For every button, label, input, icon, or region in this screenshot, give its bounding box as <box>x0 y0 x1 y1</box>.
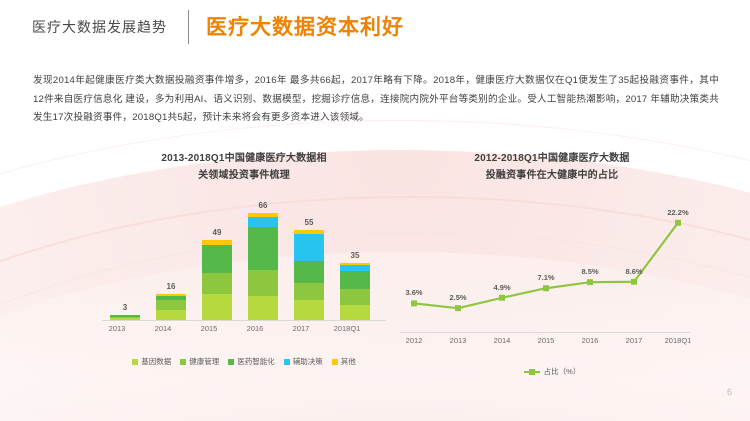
bar-x-tick-label: 2013 <box>94 324 140 333</box>
slide-header: 医疗大数据发展趋势 医疗大数据资本利好 <box>0 0 750 56</box>
bar-segment <box>248 296 278 320</box>
page-title: 医疗大数据资本利好 <box>206 11 404 41</box>
bar-segment <box>202 273 232 294</box>
line-chart-legend: 占比（%） <box>392 366 712 377</box>
bar-chart: 2013-2018Q1中国健康医疗大数据相 关领域投资事件梳理 31649665… <box>96 150 392 358</box>
bar-chart-x-axis <box>102 320 386 321</box>
bar-chart-title: 2013-2018Q1中国健康医疗大数据相 关领域投资事件梳理 <box>96 150 392 184</box>
legend-swatch-icon <box>180 359 186 365</box>
bar-segment <box>340 289 370 305</box>
bar-chart-legend: 基因数据健康管理医药智能化辅助决策其他 <box>96 356 392 367</box>
line-value-label: 4.9% <box>493 283 510 292</box>
bar-chart-x-tick-labels: 201320142015201620172018Q1 <box>96 324 392 340</box>
line-chart-title-line2: 投融资事件在大健康中的占比 <box>392 167 712 184</box>
line-legend-label: 占比（%） <box>544 366 581 377</box>
line-value-label: 22.2% <box>667 208 688 217</box>
bar-value-label: 35 <box>340 251 370 263</box>
legend-swatch-icon <box>228 359 234 365</box>
bar-legend-item[interactable]: 辅助决策 <box>284 356 323 367</box>
bar-column: 55 <box>294 230 324 320</box>
bar-chart-title-line1: 2013-2018Q1中国健康医疗大数据相 <box>96 150 392 167</box>
header-divider <box>188 10 189 44</box>
bar-legend-item[interactable]: 其他 <box>332 356 356 367</box>
bar-x-tick-label: 2015 <box>186 324 232 333</box>
header-subtitle: 医疗大数据发展趋势 <box>32 17 167 37</box>
line-x-tick-label: 2014 <box>482 336 522 345</box>
line-x-tick-label: 2017 <box>614 336 654 345</box>
line-value-label: 7.1% <box>537 273 554 282</box>
bar-column: 3 <box>110 315 140 320</box>
bar-column: 16 <box>156 294 186 320</box>
legend-swatch-icon <box>284 359 290 365</box>
line-data-point <box>499 295 505 301</box>
line-chart-title-line1: 2012-2018Q1中国健康医疗大数据 <box>392 150 712 167</box>
line-chart-plot-area: 3.6%2.5%4.9%7.1%8.5%8.6%22.2% <box>392 193 712 333</box>
legend-label: 健康管理 <box>189 356 219 367</box>
bar-segment <box>248 227 278 269</box>
bar-segment <box>340 271 370 289</box>
line-value-label: 2.5% <box>449 293 466 302</box>
bar-legend-item[interactable]: 基因数据 <box>132 356 171 367</box>
line-data-point <box>543 285 549 291</box>
legend-label: 医药智能化 <box>237 356 275 367</box>
bar-value-label: 3 <box>110 303 140 315</box>
line-x-tick-label: 2018Q1 <box>658 336 698 345</box>
line-legend-marker-icon <box>524 371 540 373</box>
bar-segment <box>294 234 324 262</box>
line-x-tick-label: 2013 <box>438 336 478 345</box>
line-data-point <box>455 305 461 311</box>
bar-x-tick-label: 2018Q1 <box>324 324 370 333</box>
bar-segment <box>340 305 370 320</box>
bar-value-label: 16 <box>156 282 186 294</box>
bar-x-tick-label: 2014 <box>140 324 186 333</box>
line-value-label: 3.6% <box>405 288 422 297</box>
bar-value-label: 55 <box>294 218 324 230</box>
slide-canvas: 医疗大数据发展趋势 医疗大数据资本利好 发现2014年起健康医疗类大数据投融资事… <box>0 0 750 421</box>
bar-x-tick-label: 2016 <box>232 324 278 333</box>
line-chart-series <box>392 193 712 333</box>
legend-label: 辅助决策 <box>293 356 323 367</box>
bar-column: 66 <box>248 213 278 320</box>
legend-label: 其他 <box>341 356 356 367</box>
page-number: 6 <box>727 387 732 397</box>
line-value-label: 8.6% <box>625 267 642 276</box>
bar-chart-plot-area: 31649665535 <box>96 193 392 321</box>
line-value-label: 8.5% <box>581 267 598 276</box>
bar-segment <box>202 294 232 320</box>
bar-segment <box>294 300 324 320</box>
line-x-tick-label: 2015 <box>526 336 566 345</box>
legend-swatch-icon <box>332 359 338 365</box>
body-paragraph: 发现2014年起健康医疗类大数据投融资事件增多，2016年 最多共66起，201… <box>33 72 719 128</box>
line-data-point <box>675 220 681 226</box>
line-x-tick-label: 2016 <box>570 336 610 345</box>
bar-value-label: 49 <box>202 228 232 240</box>
legend-label: 基因数据 <box>141 356 171 367</box>
bar-segment <box>156 300 186 310</box>
bar-x-tick-label: 2017 <box>278 324 324 333</box>
line-chart-x-tick-labels: 2012201320142015201620172018Q1 <box>392 336 712 352</box>
bar-segment <box>202 245 232 273</box>
line-chart: 2012-2018Q1中国健康医疗大数据 投融资事件在大健康中的占比 3.6%2… <box>392 150 712 358</box>
line-x-tick-label: 2012 <box>394 336 434 345</box>
line-data-point <box>411 300 417 306</box>
bar-segment <box>248 270 278 296</box>
bar-column: 35 <box>340 263 370 320</box>
bar-segment <box>294 261 324 282</box>
line-data-point <box>587 279 593 285</box>
bar-segment <box>294 283 324 301</box>
line-chart-title: 2012-2018Q1中国健康医疗大数据 投融资事件在大健康中的占比 <box>392 150 712 184</box>
bar-segment <box>110 318 140 320</box>
legend-swatch-icon <box>132 359 138 365</box>
bar-column: 49 <box>202 240 232 320</box>
bar-legend-item[interactable]: 健康管理 <box>180 356 219 367</box>
line-data-point <box>631 279 637 285</box>
bar-chart-title-line2: 关领域投资事件梳理 <box>96 167 392 184</box>
bar-segment <box>248 217 278 227</box>
bar-segment <box>156 310 186 320</box>
bar-legend-item[interactable]: 医药智能化 <box>228 356 275 367</box>
bar-value-label: 66 <box>248 201 278 213</box>
